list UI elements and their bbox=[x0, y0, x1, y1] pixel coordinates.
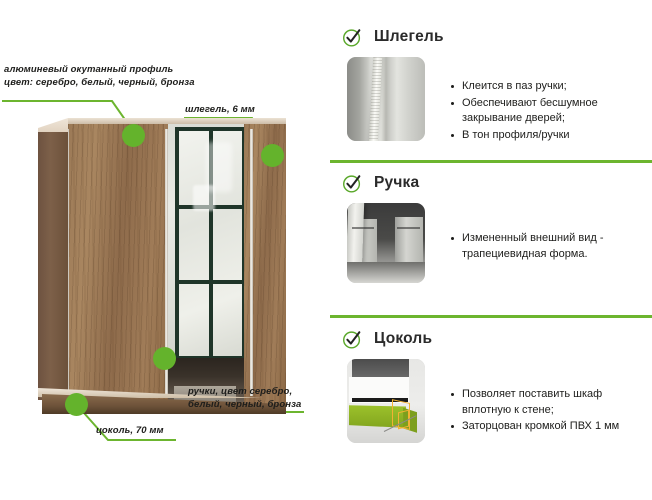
bullet-item: В тон профиля/ручки bbox=[451, 128, 642, 144]
wardrobe-illustration-panel: алюминевый окутанный профиль цвет: сереб… bbox=[0, 0, 330, 500]
marker-dot-profile bbox=[122, 124, 145, 147]
door-center-mirror bbox=[168, 121, 250, 404]
section-divider bbox=[330, 160, 652, 163]
wardrobe-left-side bbox=[38, 132, 69, 400]
bullet-item: Позволяет поставить шкаф вплотную к стен… bbox=[451, 387, 642, 418]
feature-thumbnail-cokol bbox=[347, 359, 425, 443]
mirror-reflection-frame bbox=[175, 127, 246, 360]
check-circle-icon bbox=[342, 329, 363, 350]
bullet-item: Клеится в паз ручки; bbox=[451, 79, 642, 95]
feature-thumbnail-shlegel bbox=[347, 57, 425, 141]
feature-title: Ручка bbox=[374, 174, 419, 192]
check-circle-icon bbox=[342, 173, 363, 194]
handle-profile-right bbox=[250, 129, 253, 396]
callout-label-handles: ручки, цвет серебро, белый, черный, брон… bbox=[188, 386, 301, 411]
feature-header: Ручка bbox=[330, 170, 652, 196]
feature-block-shlegel: Шлегель Клеится в паз ручки; Обеспечиваю… bbox=[330, 24, 652, 166]
feature-bullet-list: Клеится в паз ручки; Обеспечивают бесшум… bbox=[451, 79, 652, 144]
feature-bullet-list: Позволяет поставить шкаф вплотную к стен… bbox=[451, 387, 652, 436]
top-rail bbox=[68, 118, 286, 124]
feature-header: Шлегель bbox=[330, 24, 652, 50]
feature-thumbnail-ruchka bbox=[347, 203, 425, 283]
bullet-item: Обеспечивают бесшумное закрывание дверей… bbox=[451, 96, 642, 127]
callout-label-cokol: цоколь, 70 мм bbox=[96, 425, 164, 438]
marker-dot-handles bbox=[153, 347, 176, 370]
callout-label-shlegel: шлегель, 6 мм bbox=[185, 104, 255, 117]
callout-label-profile: алюминевый окутанный профиль цвет: сереб… bbox=[4, 64, 195, 89]
feature-title: Цоколь bbox=[374, 330, 432, 348]
feature-header: Цоколь bbox=[330, 326, 652, 352]
feature-block-cokol: Цоколь Позволяет поставить шкаф вплотную… bbox=[330, 326, 652, 486]
feature-bullet-list: Измененный внешний вид - трапециевидная … bbox=[451, 231, 652, 263]
feature-title: Шлегель bbox=[374, 28, 444, 46]
infographic-page: алюминевый окутанный профиль цвет: сереб… bbox=[0, 0, 652, 500]
section-divider bbox=[330, 315, 652, 318]
handle-profile-left bbox=[68, 129, 69, 396]
feature-block-ruchka: Ручка Измененный внешний вид - трапециев… bbox=[330, 170, 652, 318]
marker-dot-cokol bbox=[65, 393, 88, 416]
wardrobe-front bbox=[68, 121, 286, 404]
marker-dot-shlegel bbox=[261, 144, 284, 167]
bullet-item: Заторцован кромкой ПВХ 1 мм bbox=[451, 419, 642, 435]
bullet-item: Измененный внешний вид - трапециевидная … bbox=[451, 231, 642, 262]
features-panel: Шлегель Клеится в паз ручки; Обеспечиваю… bbox=[330, 0, 652, 500]
check-circle-icon bbox=[342, 27, 363, 48]
